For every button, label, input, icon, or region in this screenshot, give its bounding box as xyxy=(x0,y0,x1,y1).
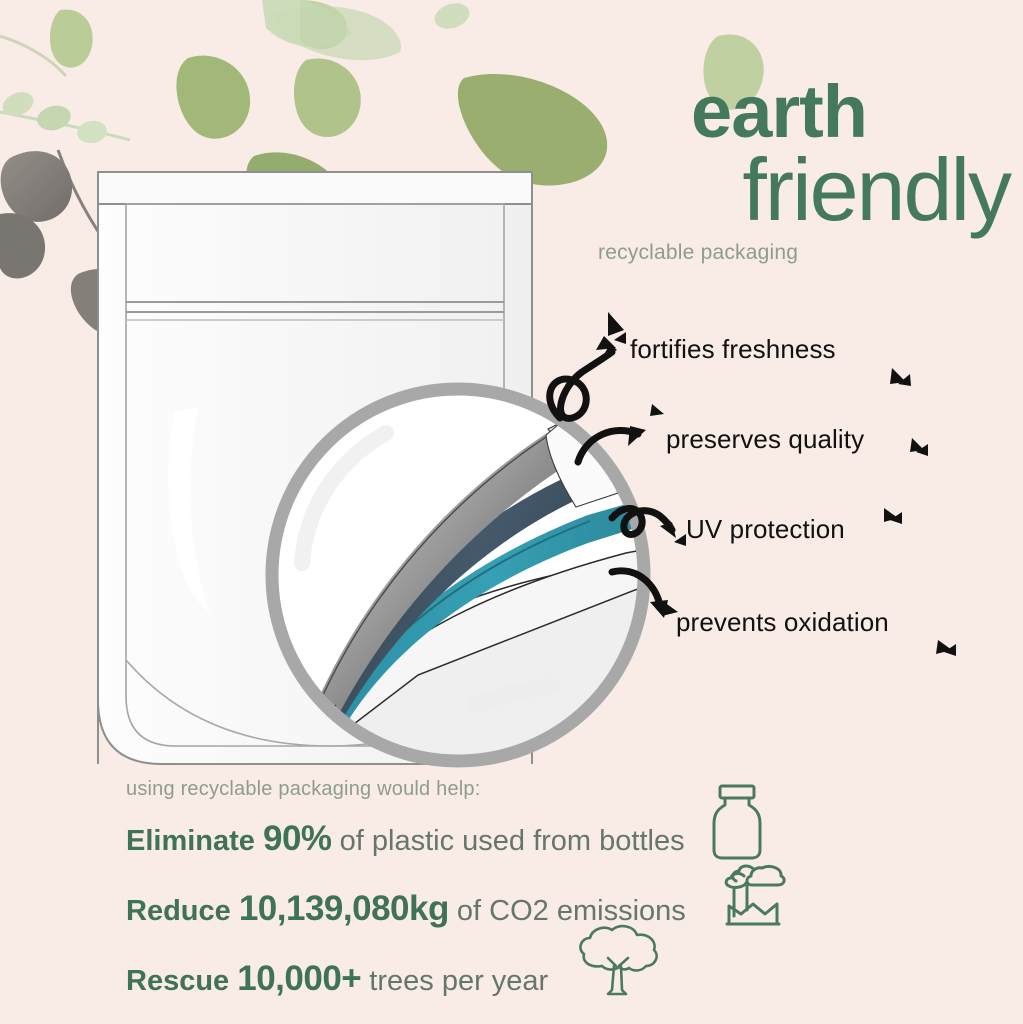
stat-row-rescue: Rescue 10,000+ trees per year xyxy=(126,959,926,999)
stat-verb: Eliminate xyxy=(126,825,255,857)
feature-label-uv-protection: UV protection xyxy=(686,514,845,545)
stats-block: using recyclable packaging would help: E… xyxy=(126,778,926,999)
stat-verb: Reduce xyxy=(126,895,231,927)
tree-icon xyxy=(572,922,664,1002)
stat-number: 90% xyxy=(263,819,332,858)
magnifier-circle xyxy=(258,375,658,775)
stat-row-eliminate: Eliminate 90% of plastic used from bottl… xyxy=(126,819,926,859)
feature-label-preserves-quality: preserves quality xyxy=(666,424,864,455)
bottle-icon xyxy=(706,782,768,862)
headline-line-1: earth xyxy=(592,78,1012,146)
infographic-canvas: earth friendly recyclable packaging xyxy=(0,0,1023,1024)
stat-rest: trees per year xyxy=(369,965,548,997)
headline-line-2: friendly xyxy=(592,148,1012,232)
stat-number: 10,139,080kg xyxy=(239,889,449,928)
factory-icon xyxy=(718,862,790,928)
headline-subtitle: recyclable packaging xyxy=(592,241,1012,265)
stat-verb: Rescue xyxy=(126,965,229,997)
stat-number: 10,000+ xyxy=(237,959,361,998)
feature-label-prevents-oxidation: prevents oxidation xyxy=(676,607,889,638)
feature-label-fortifies-freshness: fortifies freshness xyxy=(630,334,836,365)
stats-intro: using recyclable packaging would help: xyxy=(126,778,926,801)
stat-row-reduce: Reduce 10,139,080kg of CO2 emissions xyxy=(126,889,926,929)
headline-block: earth friendly recyclable packaging xyxy=(592,78,1012,265)
stat-rest: of plastic used from bottles xyxy=(340,825,685,857)
